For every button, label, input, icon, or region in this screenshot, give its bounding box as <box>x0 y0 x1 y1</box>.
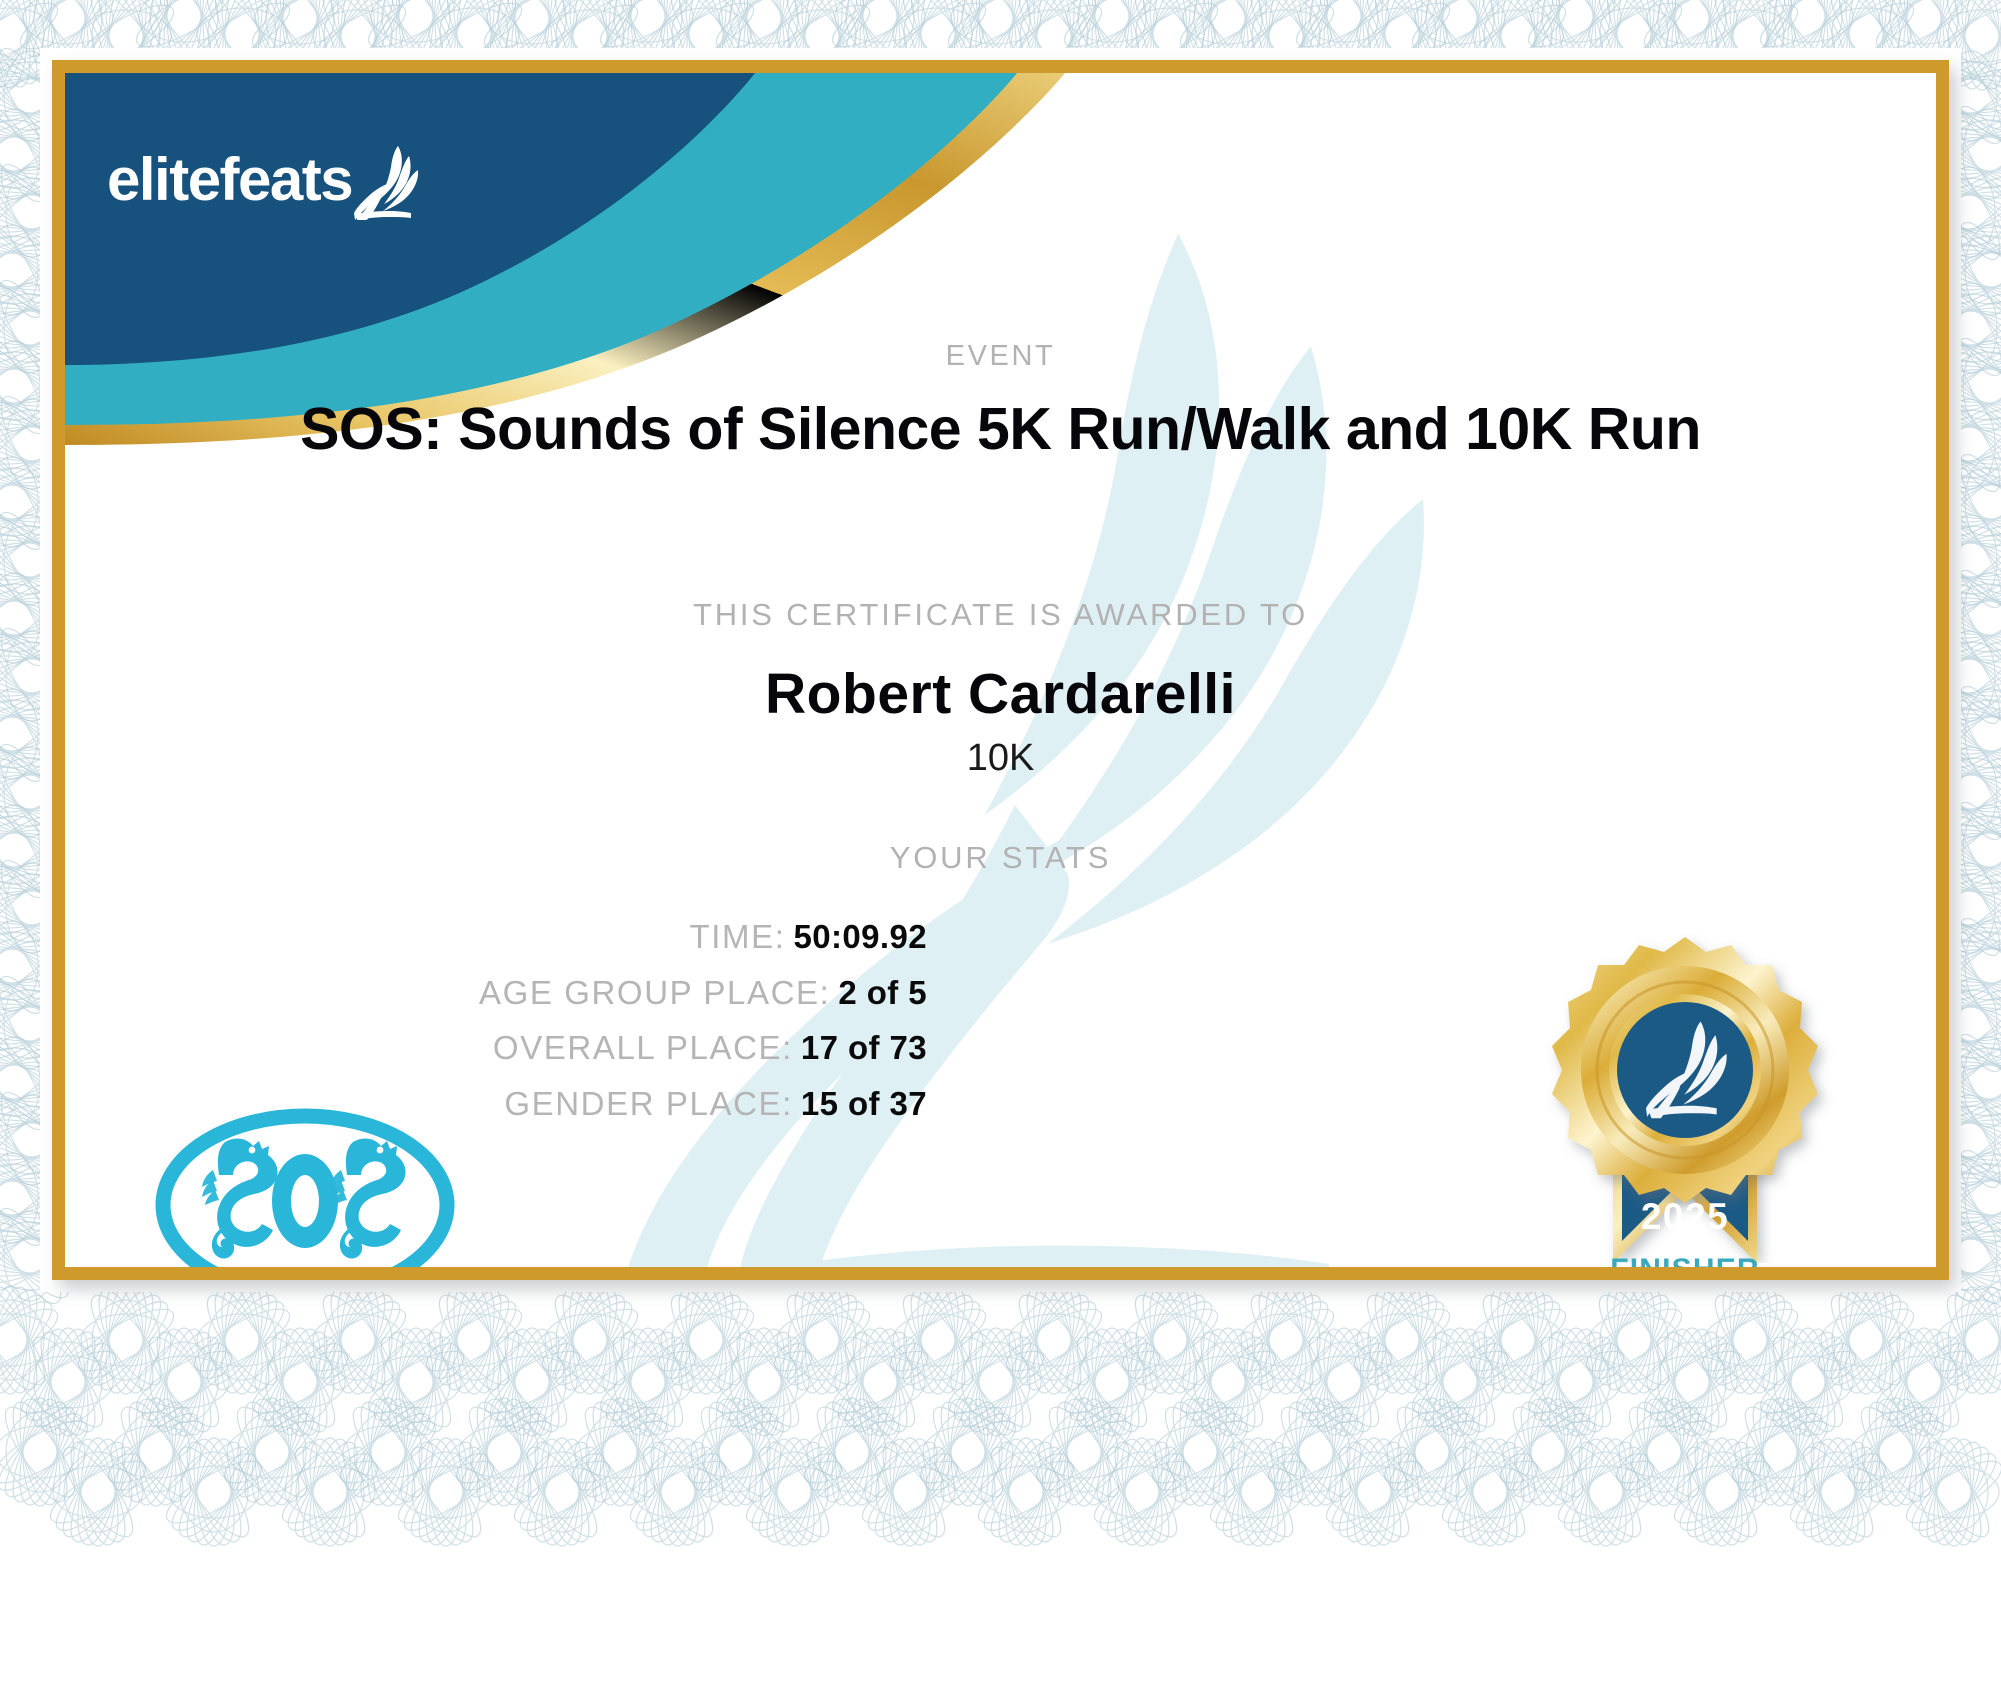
stat-row-time: TIME:50:09.92 <box>65 919 927 955</box>
medal-graphic: 2025 <box>1505 933 1865 1263</box>
stat-value: 50:09.92 <box>794 918 927 955</box>
finisher-caption-line1: FINISHER <box>1505 1253 1865 1267</box>
stat-row-age-group-place: AGE GROUP PLACE:2 of 5 <box>65 975 927 1011</box>
stat-label: TIME: <box>690 918 786 955</box>
recipient-division: 10K <box>65 737 1936 780</box>
certificate-card: elitefeats EVENT SOS: Sounds of Silence … <box>52 60 1949 1280</box>
awarded-to-label: THIS CERTIFICATE IS AWARDED TO <box>65 597 1936 633</box>
certificate-content: EVENT SOS: Sounds of Silence 5K Run/Walk… <box>65 73 1936 1267</box>
your-stats-label: YOUR STATS <box>65 840 1936 876</box>
recipient-name: Robert Cardarelli <box>65 661 1936 727</box>
event-title: SOS: Sounds of Silence 5K Run/Walk and 1… <box>65 395 1936 463</box>
medal-year: 2025 <box>1641 1196 1729 1237</box>
certificate-body: elitefeats EVENT SOS: Sounds of Silence … <box>65 73 1936 1267</box>
sos-seahorse-logo-icon <box>155 1108 455 1267</box>
stat-label: GENDER PLACE: <box>504 1085 793 1122</box>
event-kicker-label: EVENT <box>65 340 1936 373</box>
stat-value: 17 of 73 <box>801 1029 927 1066</box>
finisher-certificate-caption: FINISHER CERTIFICATE <box>1505 1253 1865 1267</box>
stat-value: 15 of 37 <box>801 1085 927 1122</box>
stat-value: 2 of 5 <box>838 974 927 1011</box>
stat-label: AGE GROUP PLACE: <box>479 974 830 1011</box>
stat-row-overall-place: OVERALL PLACE:17 of 73 <box>65 1030 927 1066</box>
stat-label: OVERALL PLACE: <box>493 1029 793 1066</box>
medal-disc <box>1552 937 1818 1203</box>
finisher-medal: 2025 FINISHER CERTIFICATE <box>1505 933 1865 1267</box>
